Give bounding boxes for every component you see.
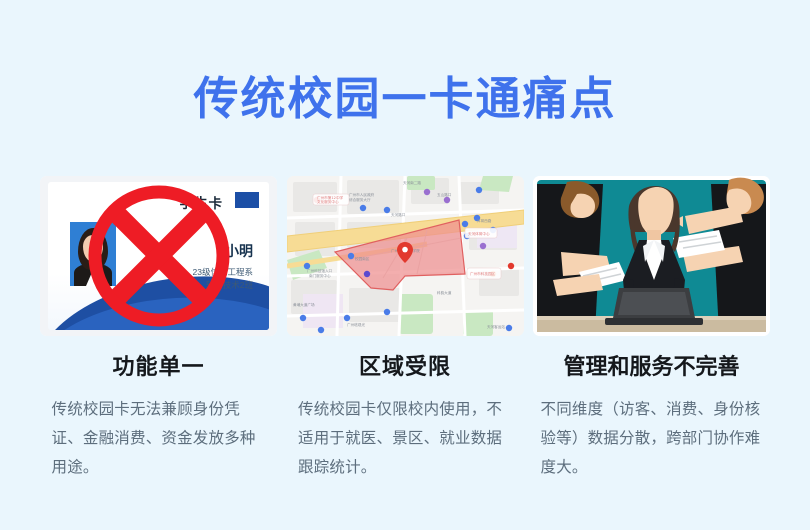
id-card-backdrop: 学生卡 小明 23级信息工程系 软件技术2班 [40,176,277,336]
pain-point-card-area-limited: 广州市第12中学 文化服务中心 天河体育中心 广州市科技园区 广州市人民政府 综… [287,176,524,482]
office-illustration-image [533,176,770,336]
svg-text:五山路口: 五山路口 [437,192,452,197]
thumbnail-office-illustration [533,176,770,336]
slide-root: 传统校园一卡通痛点 学生卡 [0,0,810,530]
column-heading: 功能单一 [112,354,204,380]
pain-point-card-single-function: 学生卡 小明 23级信息工程系 软件技术2班 功能单一 传统校园卡无法兼顾身份凭… [40,176,277,482]
svg-text:广州市科技园区: 广州市科技园区 [470,271,496,276]
svg-text:综合服务大厅: 综合服务大厅 [349,197,371,202]
id-card-badge [235,192,259,208]
svg-text:广州市人民政府: 广州市人民政府 [349,192,375,197]
thumbnail-map: 广州市第12中学 文化服务中心 天河体育中心 广州市科技园区 广州市人民政府 综… [287,176,524,336]
map-image: 广州市第12中学 文化服务中心 天河体育中心 广州市科技园区 广州市人民政府 综… [287,176,524,336]
page-title: 传统校园一卡通痛点 [0,74,810,124]
svg-text:黄埔大道广场: 黄埔大道广场 [293,302,315,307]
svg-text:文化服务中心: 文化服务中心 [317,199,339,204]
svg-text:南门服务中心: 南门服务中心 [309,273,331,278]
svg-text:天河南二路: 天河南二路 [403,180,421,185]
column-body-text: 不同维度（访客、消费、身份核验等）数据分散，跨部门协作难度大。 [541,396,763,482]
thumbnail-student-id-card: 学生卡 小明 23级信息工程系 软件技术2班 [40,176,277,336]
svg-text:广州科技馆入口: 广州科技馆入口 [307,268,333,273]
red-cross-prohibition-icon [85,182,233,330]
svg-text:天河客运站: 天河客运站 [487,324,505,329]
column-heading: 区域受限 [359,354,451,380]
column-body-text: 传统校园卡无法兼顾身份凭证、金融消费、资金发放多种用途。 [52,396,266,482]
column-heading: 管理和服务不完善 [563,354,739,380]
svg-text:校园南区: 校园南区 [355,256,370,261]
svg-text:天河体育中心: 天河体育中心 [468,231,490,236]
svg-text:科韵大道: 科韵大道 [437,290,452,295]
svg-text:天河路口: 天河路口 [391,212,406,217]
svg-text:体育西路: 体育西路 [477,218,492,223]
pain-point-card-management-service: 管理和服务不完善 不同维度（访客、消费、身份核验等）数据分散，跨部门协作难度大。 [533,176,770,482]
pain-point-columns: 学生卡 小明 23级信息工程系 软件技术2班 功能单一 传统校园卡无法兼顾身份凭… [40,176,770,482]
svg-text:广州塔观光: 广州塔观光 [347,322,365,327]
column-body-text: 传统校园卡仅限校内使用，不适用于就医、景区、就业数据跟踪统计。 [298,396,512,482]
